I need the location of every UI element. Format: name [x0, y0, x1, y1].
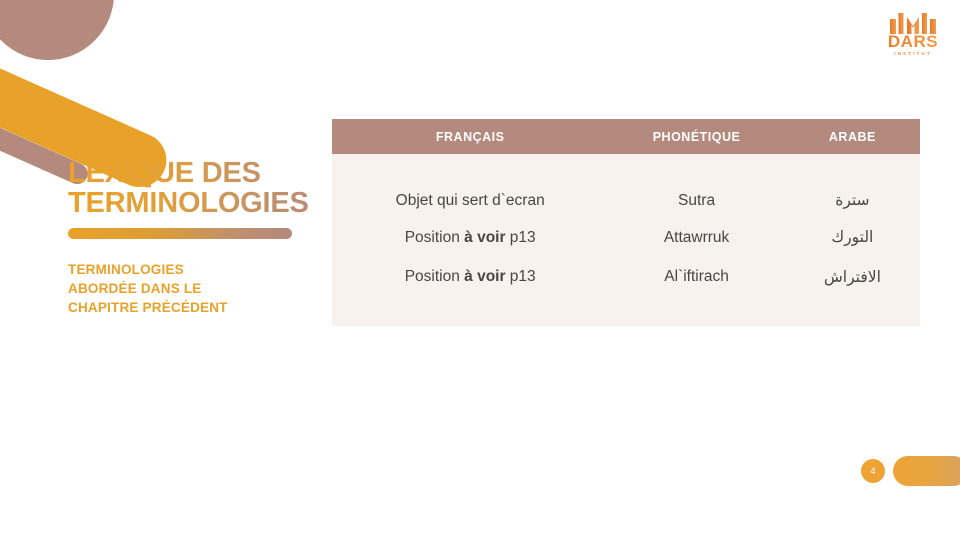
cell-phonetique: Al`iftirach	[608, 256, 784, 298]
slide-canvas: DARS INSTITUT LEXIQUE DES TERMINOLOGIES …	[0, 0, 960, 540]
cell-francais-emphasis: à voir	[464, 229, 505, 246]
cell-arabe: التورك	[785, 219, 920, 256]
cell-francais-suffix: p13	[506, 229, 536, 246]
cell-francais-emphasis: à voir	[464, 268, 505, 285]
logo-tagline: INSTITUT	[880, 51, 946, 56]
table-header-row: FRANÇAIS PHONÉTIQUE ARABE	[332, 119, 920, 154]
title-block: LEXIQUE DES TERMINOLOGIES TERMINOLOGIES …	[68, 158, 334, 317]
cell-francais: Position à voir p13	[332, 219, 608, 256]
table-top-spacer	[332, 154, 920, 182]
mosque-arch-icon	[890, 8, 936, 34]
cell-phonetique: Attawrruk	[608, 219, 784, 256]
page-number-accent-bar	[893, 456, 960, 486]
table-row: Position à voir p13 Attawrruk التورك	[332, 219, 920, 256]
dars-institut-logo: DARS INSTITUT	[880, 8, 946, 64]
slide-subtitle: TERMINOLOGIES ABORDÉE DANS LE CHAPITRE P…	[68, 261, 334, 317]
cell-francais-suffix: p13	[506, 268, 536, 285]
decor-semicircle-rose	[0, 0, 114, 60]
cell-arabe: الافتراش	[785, 256, 920, 298]
column-header-arabe: ARABE	[785, 119, 920, 154]
title-underline-rule	[68, 228, 292, 239]
table-row: Position à voir p13 Al`iftirach الافتراش	[332, 256, 920, 298]
cell-phonetique: Sutra	[608, 182, 784, 219]
cell-francais: Objet qui sert d`ecran	[332, 182, 608, 219]
slide-title: LEXIQUE DES TERMINOLOGIES	[68, 158, 334, 218]
cell-francais-prefix: Objet qui sert d`ecran	[396, 192, 545, 209]
lexicon-table: FRANÇAIS PHONÉTIQUE ARABE Objet qui sert…	[332, 119, 920, 326]
cell-arabe: سترة	[785, 182, 920, 219]
table-bottom-spacer	[332, 298, 920, 326]
logo-wordmark: DARS	[880, 33, 946, 50]
column-header-phonetique: PHONÉTIQUE	[608, 119, 784, 154]
table-row: Objet qui sert d`ecran Sutra سترة	[332, 182, 920, 219]
column-header-francais: FRANÇAIS	[332, 119, 608, 154]
cell-francais-prefix: Position	[405, 229, 464, 246]
cell-francais-prefix: Position	[405, 268, 464, 285]
cell-francais: Position à voir p13	[332, 256, 608, 298]
page-number-badge: 4	[861, 459, 885, 483]
